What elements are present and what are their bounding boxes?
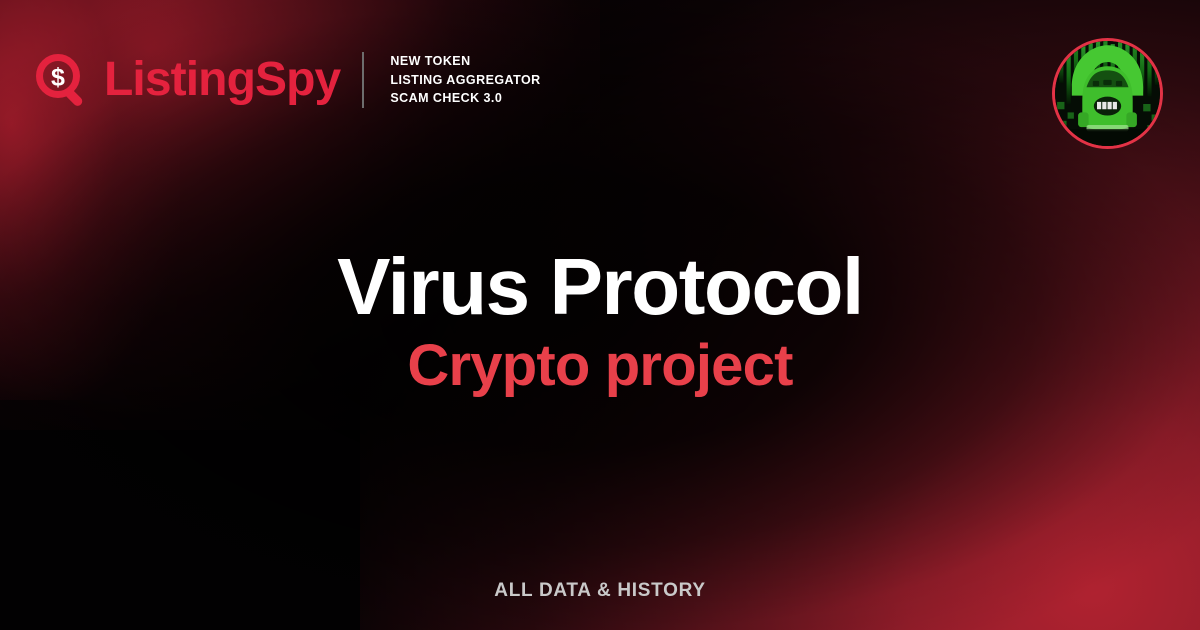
page-subtitle: Crypto project [0,336,1200,397]
brand-logo[interactable]: $ ListingSpy [36,53,340,107]
tagline-line-3: SCAM CHECK 3.0 [390,90,540,107]
tagline-line-1: NEW TOKEN [390,53,540,70]
hero-section: Virus Protocol Crypto project [0,246,1200,396]
footer: ALL DATA & HISTORY [0,580,1200,602]
header: $ ListingSpy NEW TOKEN LISTING AGGREGATO… [36,52,541,108]
header-divider [362,52,364,108]
tagline: NEW TOKEN LISTING AGGREGATOR SCAM CHECK … [390,53,540,107]
page-title: Virus Protocol [0,246,1200,328]
svg-text:$: $ [51,64,65,92]
banner-stage: $ ListingSpy NEW TOKEN LISTING AGGREGATO… [0,0,1200,630]
magnifier-dollar-icon: $ [36,54,90,108]
project-avatar[interactable] [1052,38,1163,149]
virus-monster-avatar [1055,41,1160,146]
brand-name: ListingSpy [104,56,340,104]
footer-caption: ALL DATA & HISTORY [494,580,705,601]
tagline-line-2: LISTING AGGREGATOR [390,72,540,89]
